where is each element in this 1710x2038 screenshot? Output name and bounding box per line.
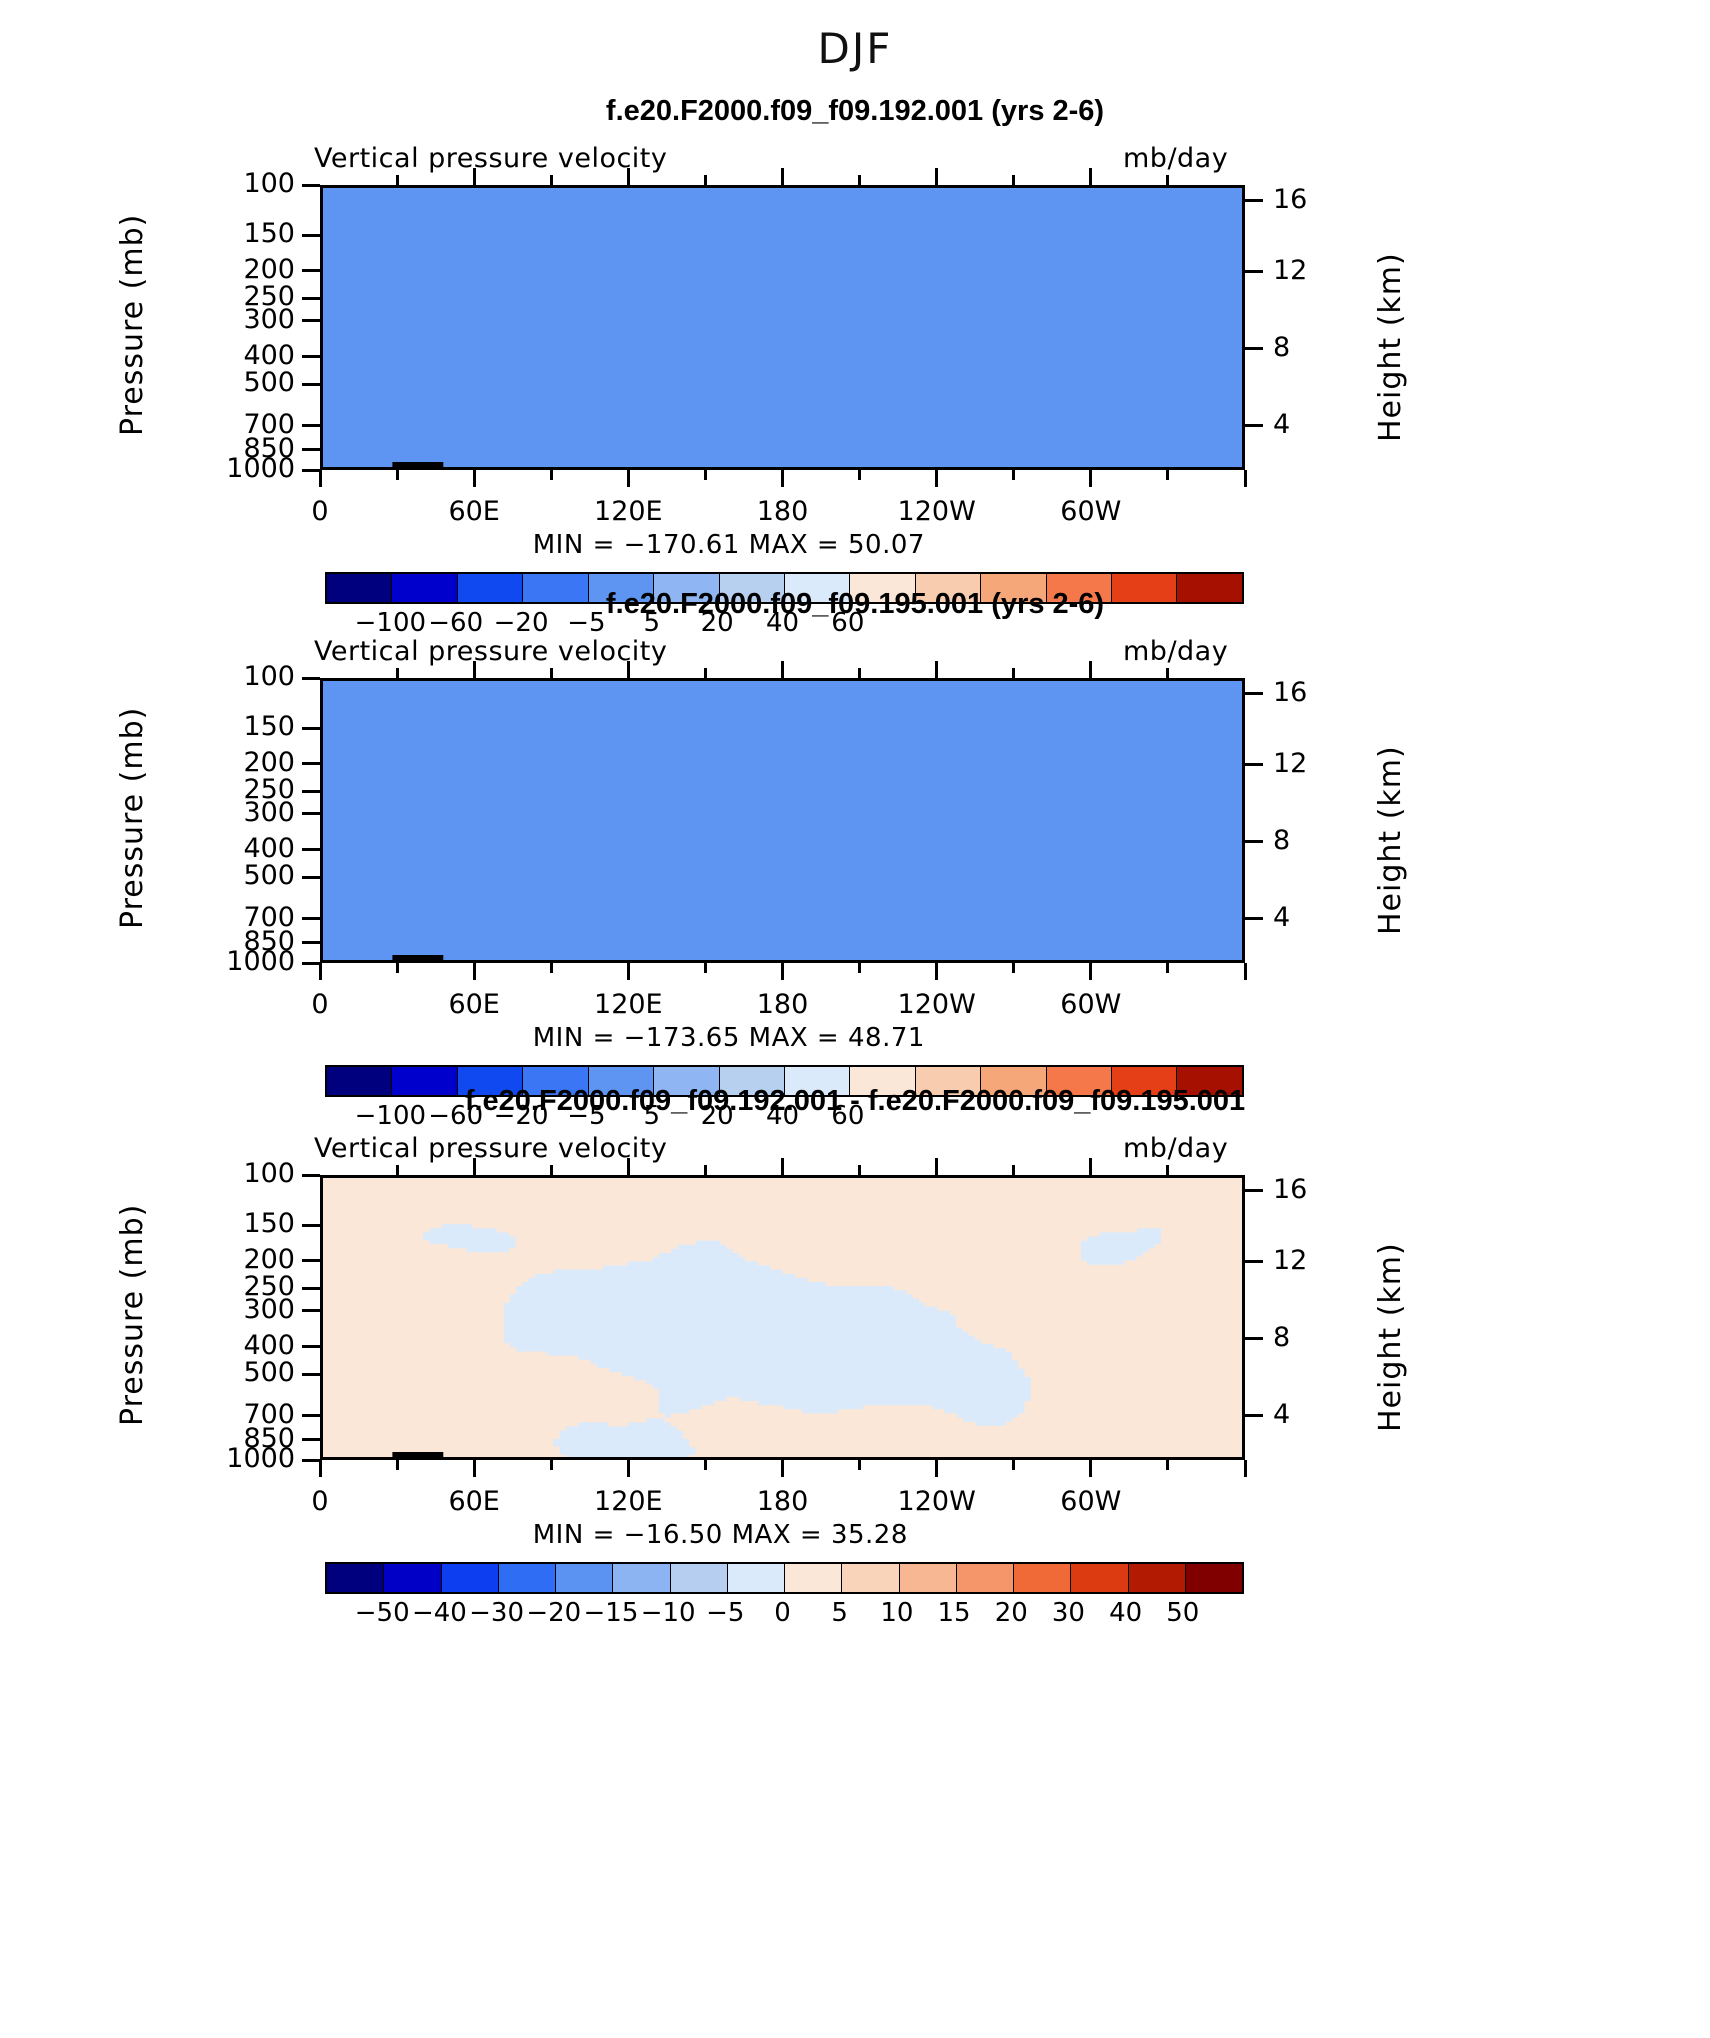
colorbar-tick-label: −50 [355, 1598, 410, 1628]
colorbar-tick-label: −15 [584, 1598, 639, 1628]
pressure-tick [302, 848, 320, 851]
height-tick-label: 8 [1273, 332, 1290, 363]
pressure-tick [302, 1414, 320, 1417]
height-tick [1245, 424, 1263, 427]
longitude-tick-top [627, 1158, 630, 1175]
longitude-tick-bottom [396, 470, 399, 480]
longitude-tick-label: 60E [414, 989, 534, 1020]
colorbar-cell [671, 1564, 728, 1592]
contour-field [323, 681, 1245, 963]
longitude-tick-label: 180 [723, 989, 843, 1020]
height-tick [1245, 270, 1263, 273]
colorbar-tick-label: 40 [1109, 1598, 1142, 1628]
pressure-tick [302, 917, 320, 920]
height-tick [1245, 1189, 1263, 1192]
longitude-tick-label: 120E [568, 496, 688, 527]
longitude-tick-label: 180 [723, 496, 843, 527]
longitude-tick-label: 0 [260, 1486, 380, 1517]
pressure-tick-label: 200 [170, 1244, 295, 1275]
pressure-tick [302, 184, 320, 187]
pressure-tick [302, 383, 320, 386]
pressure-tick [302, 812, 320, 815]
height-tick [1245, 1414, 1263, 1417]
colorbar-tick-label: −30 [469, 1598, 524, 1628]
colorbar-cell [613, 1564, 670, 1592]
pressure-tick-label: 200 [170, 254, 295, 285]
longitude-tick-label: 60E [414, 1486, 534, 1517]
longitude-tick-top [781, 661, 784, 678]
y-axis-label-height: Height (km) [1373, 1242, 1408, 1432]
pressure-tick [302, 355, 320, 358]
height-tick [1245, 692, 1263, 695]
longitude-tick-bottom [550, 1460, 553, 1470]
pressure-tick-label: 300 [170, 1294, 295, 1325]
pressure-tick [302, 1345, 320, 1348]
longitude-tick-bottom [1089, 1460, 1092, 1477]
longitude-tick-top [473, 1158, 476, 1175]
longitude-tick-label: 0 [260, 989, 380, 1020]
longitude-tick-bottom [1089, 470, 1092, 487]
longitude-tick-top [858, 1165, 861, 1175]
height-tick [1245, 763, 1263, 766]
longitude-tick-bottom [1166, 1460, 1169, 1470]
pressure-tick [302, 269, 320, 272]
colorbar-cell [1129, 1564, 1186, 1592]
longitude-tick-top [1166, 668, 1169, 678]
longitude-tick-top [935, 168, 938, 185]
height-tick [1245, 917, 1263, 920]
min-max-annotation: MIN = −16.50 MAX = 35.28 [533, 1520, 908, 1550]
longitude-tick-bottom [935, 1460, 938, 1477]
height-tick [1245, 840, 1263, 843]
colorbar-cell [442, 1564, 499, 1592]
pressure-tick [302, 941, 320, 944]
longitude-tick-label: 120E [568, 1486, 688, 1517]
pressure-tick [302, 1174, 320, 1177]
colorbar-tick-label: 5 [831, 1598, 848, 1628]
pressure-tick [302, 677, 320, 680]
longitude-tick-bottom [627, 963, 630, 980]
height-tick [1245, 1337, 1263, 1340]
pressure-tick [302, 1373, 320, 1376]
contour-plot-area [320, 185, 1245, 470]
longitude-tick-bottom [396, 1460, 399, 1470]
longitude-tick-bottom [1012, 470, 1015, 480]
height-tick-label: 16 [1273, 1174, 1307, 1205]
longitude-tick-bottom [1244, 470, 1247, 487]
variable-name-label: Vertical pressure velocity [314, 143, 667, 174]
panel-title: f.e20.F2000.f09_f09.192.001 (yrs 2-6) [0, 95, 1710, 128]
contour-plot-area [320, 1175, 1245, 1460]
pressure-tick-label: 1000 [170, 946, 295, 977]
longitude-tick-bottom [473, 470, 476, 487]
longitude-tick-top [627, 168, 630, 185]
panel-title: f.e20.F2000.f09_f09.192.001 - f.e20.F200… [0, 1085, 1710, 1118]
pressure-tick-label: 500 [170, 860, 295, 891]
height-tick [1245, 347, 1263, 350]
longitude-tick-top [1089, 661, 1092, 678]
longitude-tick-label: 180 [723, 1486, 843, 1517]
units-label: mb/day [1123, 636, 1228, 667]
longitude-tick-bottom [319, 1460, 322, 1477]
pressure-tick [302, 469, 320, 472]
longitude-tick-bottom [704, 963, 707, 973]
pressure-tick-label: 1000 [170, 453, 295, 484]
colorbar-cell [1071, 1564, 1128, 1592]
longitude-tick-label: 120E [568, 989, 688, 1020]
longitude-tick-top [858, 668, 861, 678]
colorbar-cell [842, 1564, 899, 1592]
y-axis-label-pressure: Pressure (mb) [115, 213, 150, 435]
pressure-tick [302, 1459, 320, 1462]
colorbar-cell [384, 1564, 441, 1592]
longitude-tick-top [1089, 1158, 1092, 1175]
pressure-tick-label: 150 [170, 1208, 295, 1239]
y-axis-label-pressure: Pressure (mb) [115, 706, 150, 928]
longitude-tick-label: 120W [877, 496, 997, 527]
longitude-tick-bottom [935, 470, 938, 487]
y-axis-label-height: Height (km) [1373, 252, 1408, 442]
colorbar-tick-label: −40 [412, 1598, 467, 1628]
longitude-tick-bottom [1166, 963, 1169, 973]
pressure-tick [302, 297, 320, 300]
height-tick-label: 4 [1273, 902, 1290, 933]
longitude-tick-top [473, 661, 476, 678]
colorbar-cell [1186, 1564, 1242, 1592]
pressure-tick-label: 100 [170, 1158, 295, 1189]
pressure-tick [302, 762, 320, 765]
pressure-tick [302, 319, 320, 322]
pressure-tick-label: 1000 [170, 1443, 295, 1474]
pressure-tick-label: 400 [170, 1330, 295, 1361]
pressure-tick-label: 500 [170, 1357, 295, 1388]
longitude-tick-top [1012, 1165, 1015, 1175]
longitude-tick-top [704, 668, 707, 678]
pressure-tick-label: 150 [170, 218, 295, 249]
contour-field [323, 188, 1245, 470]
longitude-tick-top [935, 661, 938, 678]
longitude-tick-bottom [1244, 1460, 1247, 1477]
pressure-tick [302, 448, 320, 451]
longitude-tick-top [1166, 175, 1169, 185]
height-tick-label: 12 [1273, 255, 1307, 286]
season-title: DJF [0, 24, 1710, 73]
height-tick-label: 12 [1273, 1245, 1307, 1276]
longitude-tick-top [781, 168, 784, 185]
colorbar-tick-label: 15 [938, 1598, 971, 1628]
units-label: mb/day [1123, 143, 1228, 174]
colorbar-tick-label: −5 [706, 1598, 744, 1628]
longitude-tick-top [935, 1158, 938, 1175]
longitude-tick-label: 0 [260, 496, 380, 527]
longitude-tick-top [550, 175, 553, 185]
longitude-tick-bottom [1166, 470, 1169, 480]
longitude-tick-label: 120W [877, 989, 997, 1020]
pressure-tick [302, 727, 320, 730]
contour-plot-area [320, 678, 1245, 963]
longitude-tick-bottom [473, 1460, 476, 1477]
pressure-tick-label: 200 [170, 747, 295, 778]
longitude-tick-top [781, 1158, 784, 1175]
longitude-tick-top [704, 175, 707, 185]
longitude-tick-top [550, 1165, 553, 1175]
longitude-tick-top [550, 668, 553, 678]
pressure-tick-label: 500 [170, 367, 295, 398]
colorbar-tick-label: −20 [526, 1598, 581, 1628]
pressure-tick [302, 1224, 320, 1227]
colorbar-cell [900, 1564, 957, 1592]
longitude-tick-bottom [473, 963, 476, 980]
longitude-tick-top [473, 168, 476, 185]
longitude-tick-bottom [1089, 963, 1092, 980]
pressure-tick-label: 300 [170, 304, 295, 335]
height-tick [1245, 199, 1263, 202]
longitude-tick-bottom [781, 1460, 784, 1477]
pressure-tick [302, 1309, 320, 1312]
pressure-tick-label: 400 [170, 340, 295, 371]
height-tick [1245, 1260, 1263, 1263]
colorbar-tick-label: 0 [774, 1598, 791, 1628]
variable-name-label: Vertical pressure velocity [314, 636, 667, 667]
pressure-tick [302, 1287, 320, 1290]
longitude-tick-label: 60W [1031, 496, 1151, 527]
longitude-tick-bottom [781, 470, 784, 487]
longitude-tick-bottom [858, 1460, 861, 1470]
longitude-tick-bottom [550, 470, 553, 480]
units-label: mb/day [1123, 1133, 1228, 1164]
y-axis-label-height: Height (km) [1373, 745, 1408, 935]
longitude-tick-label: 60W [1031, 1486, 1151, 1517]
pressure-tick-label: 150 [170, 711, 295, 742]
longitude-tick-label: 120W [877, 1486, 997, 1517]
pressure-tick [302, 790, 320, 793]
longitude-tick-bottom [935, 963, 938, 980]
longitude-tick-top [396, 1165, 399, 1175]
pressure-tick [302, 1438, 320, 1441]
height-tick-label: 16 [1273, 184, 1307, 215]
pressure-tick [302, 962, 320, 965]
longitude-tick-top [396, 175, 399, 185]
variable-name-label: Vertical pressure velocity [314, 1133, 667, 1164]
longitude-tick-label: 60E [414, 496, 534, 527]
height-tick-label: 12 [1273, 748, 1307, 779]
longitude-tick-bottom [319, 963, 322, 980]
longitude-tick-top [1012, 175, 1015, 185]
colorbar-cell [327, 1564, 384, 1592]
longitude-tick-top [627, 661, 630, 678]
longitude-tick-top [858, 175, 861, 185]
colorbar-cell [957, 1564, 1014, 1592]
pressure-tick-label: 300 [170, 797, 295, 828]
colorbar-tick-label: 10 [880, 1598, 913, 1628]
longitude-tick-label: 60W [1031, 989, 1151, 1020]
longitude-tick-bottom [704, 1460, 707, 1470]
longitude-tick-top [1166, 1165, 1169, 1175]
height-tick-label: 4 [1273, 409, 1290, 440]
pressure-tick [302, 424, 320, 427]
min-max-annotation: MIN = −170.61 MAX = 50.07 [533, 530, 925, 560]
colorbar-tick-label: −10 [641, 1598, 696, 1628]
longitude-tick-top [396, 668, 399, 678]
longitude-tick-bottom [550, 963, 553, 973]
longitude-tick-bottom [1244, 963, 1247, 980]
longitude-tick-top [1089, 168, 1092, 185]
longitude-tick-top [704, 1165, 707, 1175]
longitude-tick-bottom [627, 470, 630, 487]
colorbar-cell [1014, 1564, 1071, 1592]
colorbar-cell [556, 1564, 613, 1592]
longitude-tick-bottom [627, 1460, 630, 1477]
longitude-tick-bottom [858, 470, 861, 480]
pressure-tick-label: 400 [170, 833, 295, 864]
pressure-tick [302, 876, 320, 879]
height-tick-label: 16 [1273, 677, 1307, 708]
longitude-tick-bottom [1012, 1460, 1015, 1470]
panel-title: f.e20.F2000.f09_f09.195.001 (yrs 2-6) [0, 588, 1710, 621]
colorbar-tick-label: 50 [1166, 1598, 1199, 1628]
height-tick-label: 8 [1273, 825, 1290, 856]
longitude-tick-top [1012, 668, 1015, 678]
pressure-tick-label: 100 [170, 661, 295, 692]
colorbar-cell [499, 1564, 556, 1592]
colorbar-cell [785, 1564, 842, 1592]
longitude-tick-bottom [396, 963, 399, 973]
longitude-tick-bottom [781, 963, 784, 980]
height-tick-label: 4 [1273, 1399, 1290, 1430]
pressure-tick-label: 100 [170, 168, 295, 199]
colorbar [325, 1562, 1244, 1594]
longitude-tick-bottom [1012, 963, 1015, 973]
height-tick-label: 8 [1273, 1322, 1290, 1353]
longitude-tick-bottom [858, 963, 861, 973]
longitude-tick-bottom [704, 470, 707, 480]
pressure-tick [302, 234, 320, 237]
contour-field [323, 1178, 1245, 1460]
y-axis-label-pressure: Pressure (mb) [115, 1203, 150, 1425]
min-max-annotation: MIN = −173.65 MAX = 48.71 [533, 1023, 925, 1053]
colorbar-tick-label: 30 [1052, 1598, 1085, 1628]
colorbar-tick-label: 20 [995, 1598, 1028, 1628]
longitude-tick-bottom [319, 470, 322, 487]
colorbar-cell [728, 1564, 785, 1592]
pressure-tick [302, 1259, 320, 1262]
